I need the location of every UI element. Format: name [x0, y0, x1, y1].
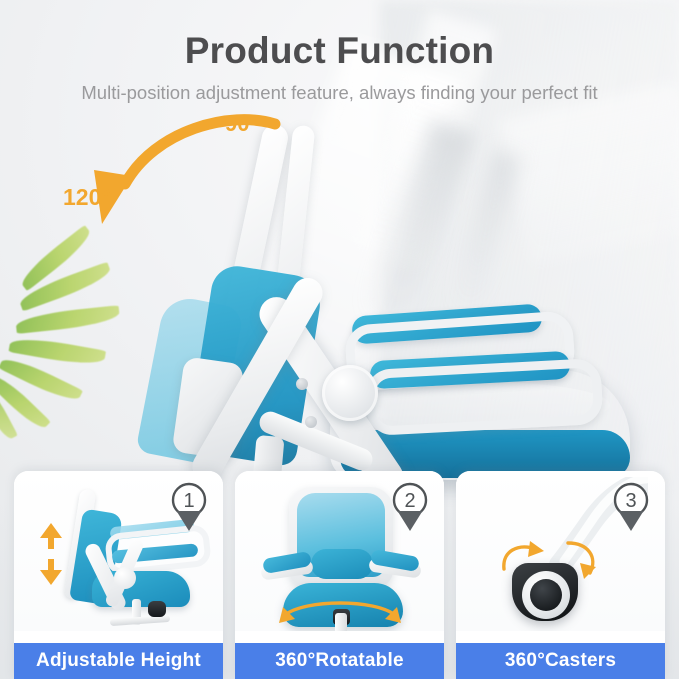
- product-feature-image: 90° 120° Product Function Multi-position…: [0, 0, 679, 679]
- feature-panel-rotatable[interactable]: 2 360°Rotatable: [235, 471, 444, 679]
- feature-panel-list: 1 Adjustable Height: [0, 471, 679, 679]
- angle-label-120: 120°: [63, 184, 111, 211]
- chair-caster: [148, 601, 166, 617]
- panel-artwork: 3: [456, 471, 665, 631]
- step-pin-badge-2: 2: [390, 481, 430, 533]
- chair-tilt-knob: [114, 567, 136, 589]
- panel-artwork: 1: [14, 471, 223, 631]
- feature-panel-casters[interactable]: 3 360°Casters: [456, 471, 665, 679]
- recline-arc-arrow: [80, 112, 300, 242]
- chair-tilt-knob: [322, 365, 378, 421]
- rotation-arrow-icon: [265, 597, 415, 631]
- caster-tire: [530, 579, 562, 611]
- page-subtitle: Multi-position adjustment feature, alway…: [0, 82, 679, 104]
- chair-bolt: [305, 416, 317, 428]
- plant-decoration: [0, 268, 116, 468]
- step-pin-badge-1: 1: [169, 481, 209, 533]
- angle-label-90: 90°: [225, 111, 258, 137]
- step-number-1: 1: [183, 490, 194, 512]
- chair-bolt: [296, 378, 308, 390]
- header: Product Function Multi-position adjustme…: [0, 0, 679, 104]
- page-title: Product Function: [0, 30, 679, 72]
- panel-artwork: 2: [235, 471, 444, 631]
- rotation-arrow-icon: [496, 537, 552, 577]
- chair-lumbar-support: [311, 549, 373, 579]
- panel-label-rotatable: 360°Rotatable: [235, 643, 444, 679]
- step-number-2: 2: [404, 490, 415, 512]
- rotation-arrow-icon: [556, 535, 608, 581]
- up-down-arrow-icon: [38, 523, 64, 585]
- plant-leaf: [15, 305, 120, 334]
- step-pin-badge-3: 3: [611, 481, 651, 533]
- chair-armrest-frame: [364, 358, 603, 436]
- panel-label-adjustable-height: Adjustable Height: [14, 643, 223, 679]
- step-number-3: 3: [625, 490, 636, 512]
- feature-panel-adjustable-height[interactable]: 1 Adjustable Height: [14, 471, 223, 679]
- panel-label-casters: 360°Casters: [456, 643, 665, 679]
